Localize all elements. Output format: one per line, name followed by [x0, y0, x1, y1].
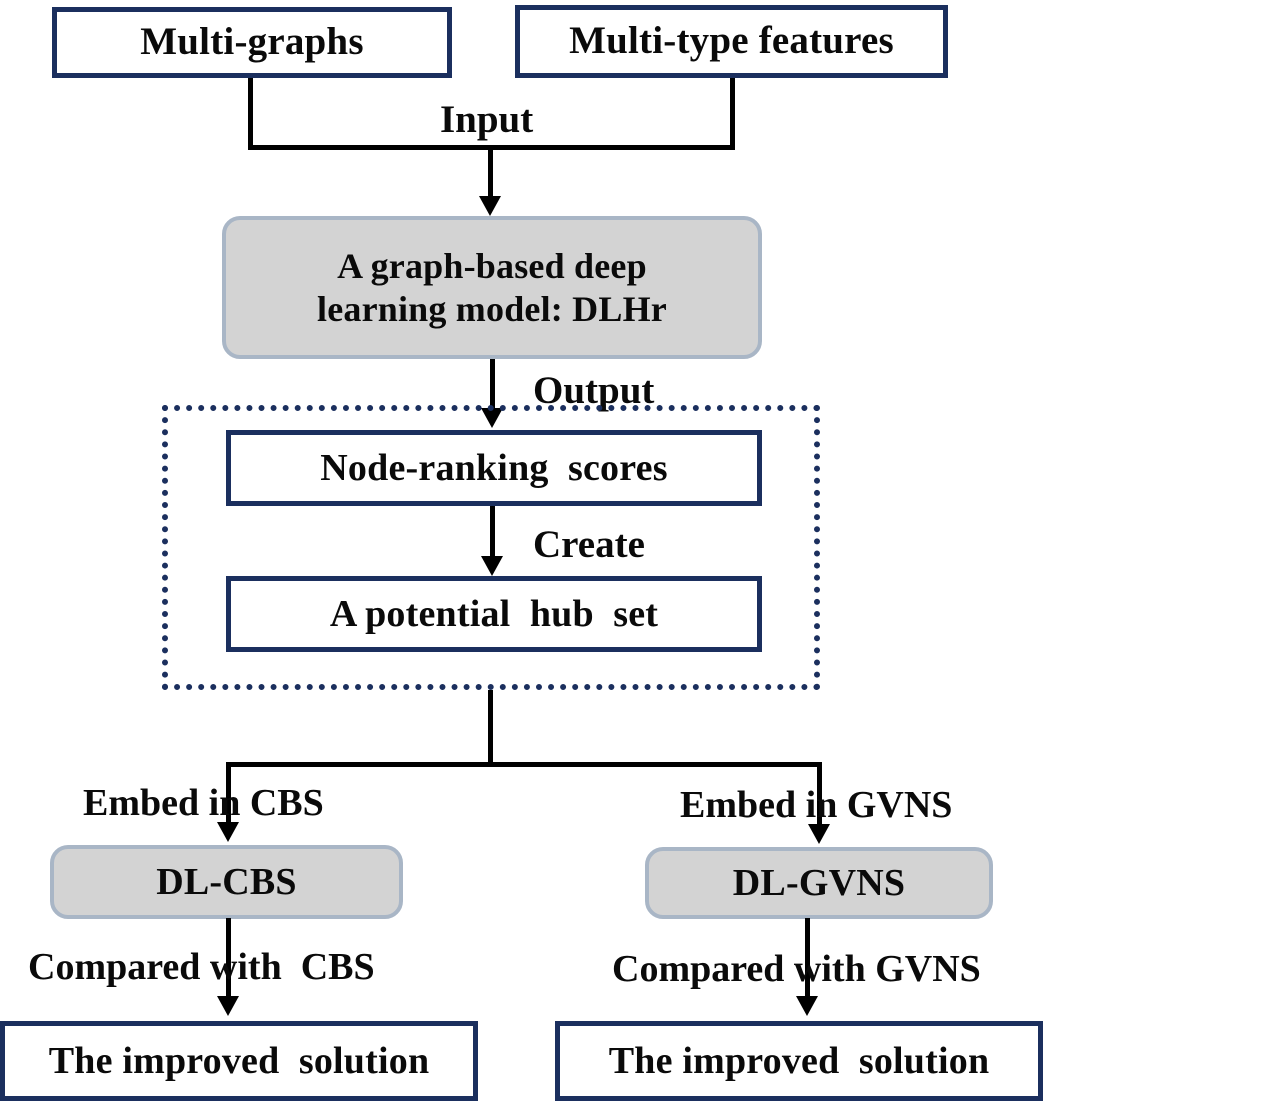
node-dl-gvns[interactable]: DL-GVNS — [645, 847, 993, 919]
arrowhead-create — [481, 556, 503, 576]
arrowhead-compared-cbs — [217, 996, 239, 1016]
connector-branch-stem — [488, 690, 493, 765]
edge-label-embed-in-gvns: Embed in GVNS — [680, 786, 952, 824]
arrowhead-compared-gvns — [796, 996, 818, 1016]
node-improved-solution-cbs[interactable]: The improved solution — [0, 1021, 478, 1101]
connector-multi-graphs-stem — [248, 78, 253, 150]
connector-branch-bar — [226, 762, 822, 767]
edge-label-input: Input — [440, 100, 533, 139]
edge-label-create: Create — [533, 525, 645, 564]
flowchart-canvas: Multi-graphs Multi-type features Input A… — [0, 0, 1280, 1118]
edge-label-compared-with-gvns: Compared with GVNS — [612, 950, 981, 988]
node-multi-type-features[interactable]: Multi-type features — [515, 5, 948, 78]
node-potential-hub-set[interactable]: A potential hub set — [226, 576, 762, 652]
edge-label-compared-with-cbs: Compared with CBS — [28, 948, 375, 986]
node-node-ranking-scores[interactable]: Node-ranking scores — [226, 430, 762, 506]
node-improved-solution-gvns[interactable]: The improved solution — [555, 1021, 1043, 1101]
arrowhead-embed-gvns — [808, 824, 830, 844]
edge-label-embed-in-cbs: Embed in CBS — [83, 784, 324, 822]
connector-create — [490, 506, 495, 562]
arrowhead-embed-cbs — [217, 822, 239, 842]
node-multi-graphs[interactable]: Multi-graphs — [52, 7, 452, 78]
node-dlhr-model[interactable]: A graph-based deep learning model: DLHr — [222, 216, 762, 359]
connector-multi-type-features-stem — [730, 78, 735, 150]
arrowhead-input — [479, 196, 501, 216]
node-dl-cbs[interactable]: DL-CBS — [50, 845, 403, 919]
